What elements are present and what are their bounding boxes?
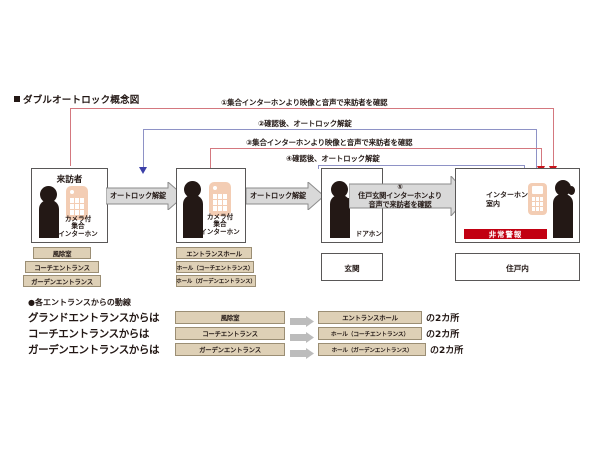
visitor-tag-1: コーチエントランス <box>25 261 99 273</box>
anno3-line-horizontal <box>210 148 542 149</box>
visitor-device-label: カメラ付 集合 インターホン <box>52 216 104 238</box>
anno3-line-vertical-right <box>541 148 542 168</box>
flow-arrow-unlock-1-label: オートロック解錠 <box>106 182 184 210</box>
anno4-line-horizontal <box>318 165 525 166</box>
flow-arrow-unlock-1: オートロック解錠 <box>106 182 184 210</box>
entrance-hall-device-label: カメラ付 集合 インターホン <box>194 214 246 236</box>
flow-arrow-doorphone-line1: 住戸玄関インターホンより <box>358 191 442 200</box>
legend-row-1-from: コーチエントランスからは <box>28 327 149 340</box>
entrance-hall-tag-1: ホール（コーチエントランス） <box>176 261 254 273</box>
visitor-tag-0: 風除室 <box>33 247 91 259</box>
emergency-alarm-badge: 非常警報 <box>464 229 547 239</box>
legend-row-0-end: エントランスホール <box>318 311 422 324</box>
entrance-hall-intercom-icon <box>209 182 231 216</box>
anno2-line-horizontal <box>143 129 537 130</box>
anno2-arrowhead <box>139 167 147 174</box>
legend-row-1-start: コーチエントランス <box>175 327 285 340</box>
legend-row-0-start: 風除室 <box>175 311 285 324</box>
page-title: ダブルオートロック概念図 <box>14 92 139 106</box>
legend-row-2-from: ガーデンエントランスからは <box>28 343 159 356</box>
flow-arrow-doorphone-line2: 音声で来訪者を確認 <box>369 200 432 209</box>
dwelling-device-label-l1: インターホン <box>486 191 528 199</box>
title-bullet-icon <box>14 96 20 102</box>
legend-row-2-suffix: の2カ所 <box>430 343 463 356</box>
legend-row-2-arrow-icon <box>290 344 314 363</box>
dwelling-resident-silhouette <box>551 180 577 238</box>
anno1-line-vertical-right <box>553 108 554 168</box>
front-door-device-label: ドアホン <box>334 231 382 238</box>
flow-arrow-doorphone-number: ⑤ <box>397 183 402 191</box>
legend-heading: ●各エントランスからの動線 <box>28 297 131 308</box>
stage-visitor-caption: 来訪者 <box>32 173 107 185</box>
legend-row-1-suffix: の2カ所 <box>426 327 459 340</box>
legend-row-2-start: ガーデンエントランス <box>175 343 285 356</box>
legend-row-1: コーチエントランスからは コーチエントランス ホール（コーチエントランス） の2… <box>28 327 468 340</box>
visitor-device-label-l3: インターホン <box>58 230 98 238</box>
legend-row-0-from: グランドエントランスからは <box>28 311 159 324</box>
dwelling-device-label-l2: 室内 <box>486 200 500 208</box>
flow-arrow-doorphone-confirm-label: ⑤ 住戸玄関インターホンより 音声で来訪者を確認 <box>349 176 469 216</box>
legend-row-0: グランドエントランスからは 風除室 エントランスホール の2カ所 <box>28 311 468 324</box>
flow-arrow-unlock-2-label: オートロック解錠 <box>246 182 324 210</box>
anno4-line-vertical-left <box>318 165 319 169</box>
annotation-3: ③集合インターホンより映像と音声で来訪者を確認 <box>246 139 412 146</box>
legend-row-0-suffix: の2カ所 <box>426 311 459 324</box>
anno2-line-vertical-right <box>536 129 537 171</box>
page-title-text: ダブルオートロック概念図 <box>23 95 139 106</box>
front-door-room-label: 玄関 <box>322 263 382 274</box>
annotation-2: ②確認後、オートロック解錠 <box>258 120 352 127</box>
annotation-1: ①集合インターホンより映像と音声で来訪者を確認 <box>221 99 387 106</box>
diagram-canvas: ダブルオートロック概念図 ①集合インターホンより映像と音声で来訪者を確認 ②確認… <box>0 0 600 449</box>
legend-row-2-end: ホール（ガーデンエントランス） <box>318 343 426 356</box>
legend-row-1-end: ホール（コーチエントランス） <box>318 327 422 340</box>
anno1-line-vertical-left <box>70 108 71 166</box>
dwelling-device-label: インターホン 室内 <box>486 191 532 209</box>
anno1-line-horizontal <box>70 108 554 109</box>
front-door-room-box: 玄関 <box>321 253 383 281</box>
anno2-line-vertical-left <box>143 129 144 167</box>
flow-arrow-doorphone-confirm: ⑤ 住戸玄関インターホンより 音声で来訪者を確認 <box>349 176 469 216</box>
entrance-hall-tag-2: ホール（ガーデンエントランス） <box>176 275 256 287</box>
dwelling-room-box: 住戸内 <box>455 253 580 281</box>
legend-row-2: ガーデンエントランスからは ガーデンエントランス ホール（ガーデンエントランス）… <box>28 343 468 356</box>
flow-arrow-unlock-2: オートロック解錠 <box>246 182 324 210</box>
dwelling-room-label: 住戸内 <box>456 263 579 274</box>
entrance-hall-tag-0: エントランスホール <box>176 247 252 259</box>
anno3-line-vertical-left <box>210 148 211 170</box>
visitor-tag-2: ガーデンエントランス <box>23 275 101 287</box>
annotation-4: ④確認後、オートロック解錠 <box>286 155 380 162</box>
entrance-hall-device-label-l3: インターホン <box>200 228 240 236</box>
